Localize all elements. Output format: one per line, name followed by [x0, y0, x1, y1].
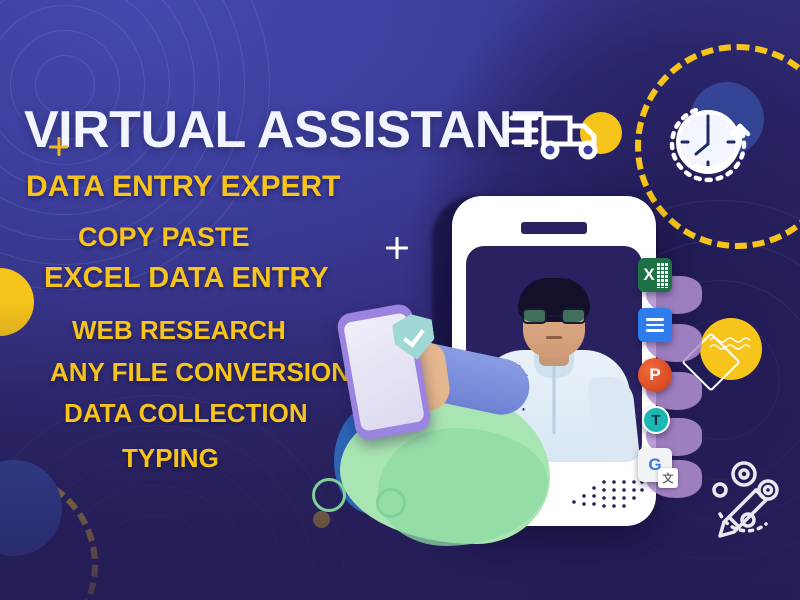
plus-mark-yellow-icon — [49, 137, 68, 156]
docs-line — [646, 318, 664, 321]
hand-holding-phone-illustration — [318, 300, 548, 540]
person-arm-right — [587, 374, 640, 462]
text-tool-icon[interactable]: T — [642, 406, 670, 434]
list-item: DATA ENTRY EXPERT — [0, 172, 400, 202]
excel-grid — [656, 262, 669, 288]
page-title: VIRTUAL ASSISTANT — [24, 100, 543, 160]
app-icons-column: X P T G 文 — [636, 258, 694, 464]
google-translate-icon[interactable]: G 文 — [638, 448, 672, 482]
delivery-truck-icon — [506, 104, 612, 164]
clock-rotate-icon — [656, 86, 766, 196]
translate-char-box: 文 — [658, 468, 678, 488]
google-docs-icon[interactable] — [638, 308, 672, 342]
phone-speaker — [521, 222, 587, 234]
excel-letter: X — [643, 265, 654, 285]
poster-canvas: VIRTUAL ASSISTANT DATA ENTRY EXPERT COPY… — [0, 0, 800, 600]
list-item: EXCEL DATA ENTRY — [0, 264, 400, 293]
list-item: COPY PASTE — [0, 224, 400, 251]
microsoft-excel-icon[interactable]: X — [638, 258, 672, 292]
halftone-dots-pattern — [568, 472, 648, 518]
docs-line — [646, 329, 664, 332]
person-mouth — [546, 336, 562, 339]
pencil-gears-icon — [700, 452, 792, 544]
shirt-placket — [553, 364, 556, 434]
microsoft-powerpoint-icon[interactable]: P — [638, 358, 672, 392]
green-ring — [312, 478, 346, 512]
green-ring — [376, 488, 406, 518]
docs-line — [646, 324, 664, 327]
